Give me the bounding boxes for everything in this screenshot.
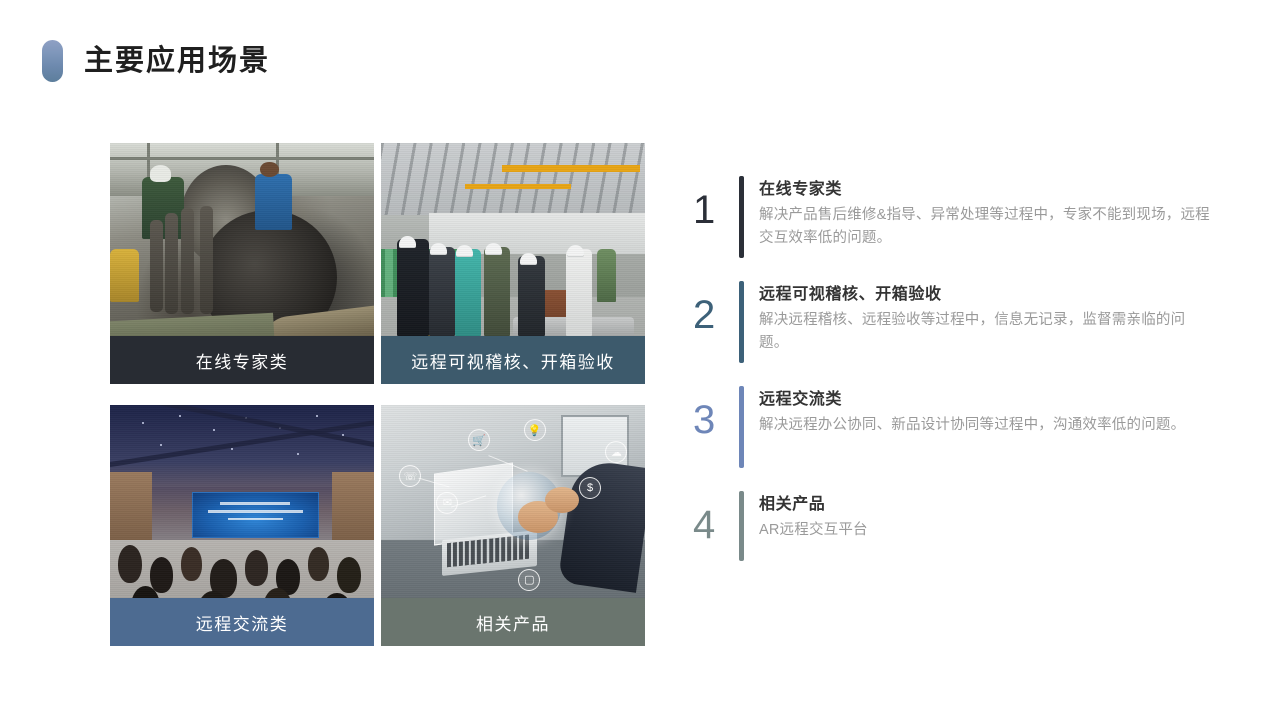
card-remote-communication[interactable]: 远程交流类 <box>110 405 374 646</box>
item-description: 解决远程稽核、远程验收等过程中，信息无记录，监督需亲临的问题。 <box>759 309 1213 356</box>
slide-root: 主要应用场景 <box>0 0 1280 720</box>
card-caption: 远程交流类 <box>110 598 374 646</box>
list-item[interactable]: 1 在线专家类 解决产品售后维修&指导、异常处理等过程中，专家不能到现场，远程交… <box>693 176 1213 258</box>
item-accent-bar <box>739 176 744 258</box>
item-accent-bar <box>739 386 744 468</box>
list-item[interactable]: 4 相关产品 AR远程交互平台 <box>693 491 1213 561</box>
item-number: 1 <box>693 176 739 230</box>
item-texts: 远程可视稽核、开箱验收 解决远程稽核、远程验收等过程中，信息无记录，监督需亲临的… <box>759 281 1213 356</box>
item-texts: 相关产品 AR远程交互平台 <box>759 491 1213 542</box>
item-number: 3 <box>693 386 739 440</box>
image-grid-row: 在线专家类 <box>110 143 645 384</box>
card-online-expert[interactable]: 在线专家类 <box>110 143 374 384</box>
item-title: 在线专家类 <box>759 178 1213 202</box>
item-accent-bar <box>739 491 744 561</box>
item-texts: 在线专家类 解决产品售后维修&指导、异常处理等过程中，专家不能到现场，远程交互效… <box>759 176 1213 251</box>
item-texts: 远程交流类 解决远程办公协同、新品设计协同等过程中，沟通效率低的问题。 <box>759 386 1213 437</box>
scenario-list: 1 在线专家类 解决产品售后维修&指导、异常处理等过程中，专家不能到现场，远程交… <box>693 176 1213 561</box>
image-grid-row: 远程交流类 🛒 ✉ ☁ <box>110 405 645 646</box>
phone-icon: ☏ <box>399 465 421 487</box>
list-item[interactable]: 2 远程可视稽核、开箱验收 解决远程稽核、远程验收等过程中，信息无记录，监督需亲… <box>693 281 1213 363</box>
card-related-product[interactable]: 🛒 ✉ ☁ $ ☏ 💡 ▢ 相关产品 <box>381 405 645 646</box>
item-description: 解决远程办公协同、新品设计协同等过程中，沟通效率低的问题。 <box>759 414 1213 437</box>
item-title: 相关产品 <box>759 493 1213 517</box>
list-item[interactable]: 3 远程交流类 解决远程办公协同、新品设计协同等过程中，沟通效率低的问题。 <box>693 386 1213 468</box>
card-caption: 远程可视稽核、开箱验收 <box>381 336 645 384</box>
page-title: 主要应用场景 <box>84 47 270 76</box>
bulb-icon: 💡 <box>524 419 546 441</box>
card-remote-audit[interactable]: 远程可视稽核、开箱验收 <box>381 143 645 384</box>
item-number: 4 <box>693 491 739 545</box>
item-accent-bar <box>739 281 744 363</box>
card-caption: 在线专家类 <box>110 336 374 384</box>
item-description: AR远程交互平台 <box>759 519 1213 542</box>
cart-icon: 🛒 <box>468 429 490 451</box>
item-description: 解决产品售后维修&指导、异常处理等过程中，专家不能到现场，远程交互效率低的问题。 <box>759 204 1213 251</box>
pill-bullet-icon <box>42 40 63 82</box>
item-title: 远程交流类 <box>759 388 1213 412</box>
screen-icon: ▢ <box>518 569 540 591</box>
image-grid: 在线专家类 <box>110 143 645 646</box>
slide-header: 主要应用场景 <box>42 40 270 82</box>
item-title: 远程可视稽核、开箱验收 <box>759 283 1213 307</box>
card-caption: 相关产品 <box>381 598 645 646</box>
item-number: 2 <box>693 281 739 335</box>
